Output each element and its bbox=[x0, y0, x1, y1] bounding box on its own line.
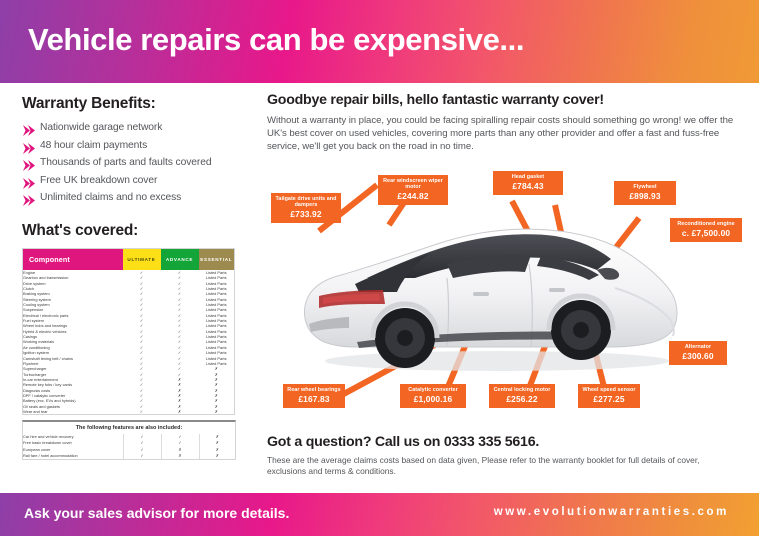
callout-label: Rear wheel bearings bbox=[287, 387, 341, 393]
callout-price: £167.83 bbox=[287, 395, 341, 404]
callout-price: £733.92 bbox=[275, 210, 337, 219]
callout-tailgate-drive-units[interactable]: Tailgate drive units and dampers £733.92 bbox=[271, 193, 341, 223]
extra-features-body: Car hire and vehicle recovery✓✓✗Free bas… bbox=[23, 434, 235, 459]
footer-website[interactable]: www.evolutionwarranties.com bbox=[494, 506, 729, 518]
benefit-item: Unlimited claims and no excess bbox=[22, 192, 247, 204]
header-banner: Vehicle repairs can be expensive... bbox=[0, 0, 759, 83]
callout-price: c. £7,500.00 bbox=[674, 229, 738, 238]
benefit-item: 48 hour claim payments bbox=[22, 140, 247, 152]
warranty-cover-heading: Goodbye repair bills, hello fantastic wa… bbox=[267, 92, 737, 108]
column-header-essential: ESSENTIAL bbox=[199, 249, 235, 271]
check-icon: ✓ bbox=[123, 409, 161, 415]
table-header-row: Component ULTIMATE ADVANCE ESSENTIAL bbox=[23, 249, 235, 271]
callout-label: Rear windscreen wiper motor bbox=[382, 178, 444, 190]
cross-icon: ✗ bbox=[199, 409, 235, 415]
contact-block: Got a question? Call us on 0333 335 5616… bbox=[267, 434, 737, 477]
callout-price: £898.93 bbox=[618, 192, 672, 201]
callout-rear-windscreen-wiper-motor[interactable]: Rear windscreen wiper motor £244.82 bbox=[378, 175, 448, 205]
callout-label: Wheel speed sensor bbox=[582, 387, 636, 393]
cross-icon: ✗ bbox=[199, 453, 235, 459]
left-column: Warranty Benefits: Nationwide garage net… bbox=[22, 95, 247, 460]
column-header-ultimate: ULTIMATE bbox=[123, 249, 161, 271]
callout-central-locking-motor[interactable]: Central locking motor £256.22 bbox=[489, 384, 555, 408]
coverage-table: Component ULTIMATE ADVANCE ESSENTIAL Eng… bbox=[22, 248, 235, 415]
callout-price: £244.82 bbox=[382, 192, 444, 201]
benefit-item: Nationwide garage network bbox=[22, 122, 247, 134]
callout-flywheel[interactable]: Flywheel £898.93 bbox=[614, 181, 676, 205]
footer-cta-text: Ask your sales advisor for more details. bbox=[24, 505, 289, 521]
callout-reconditioned-engine[interactable]: Reconditioned engine c. £7,500.00 bbox=[670, 218, 742, 242]
table-row: Wear and tear✓✗✗ bbox=[23, 409, 235, 415]
column-header-advance: ADVANCE bbox=[161, 249, 199, 271]
arrow-icon bbox=[22, 193, 36, 204]
benefits-list: Nationwide garage network48 hour claim p… bbox=[22, 122, 247, 204]
callout-label: Head gasket bbox=[497, 174, 559, 180]
benefit-label: Free UK breakdown cover bbox=[40, 175, 157, 186]
whats-covered-heading: What's covered: bbox=[22, 222, 247, 240]
warranty-cover-paragraph: Without a warranty in place, you could b… bbox=[267, 114, 737, 154]
vehicle-cost-diagram: Tailgate drive units and dampers £733.92… bbox=[267, 163, 747, 431]
callout-label: Central locking motor bbox=[493, 387, 551, 393]
arrow-icon bbox=[22, 123, 36, 134]
callout-price: £784.43 bbox=[497, 182, 559, 191]
extra-feature-name: Rail fare / hotel accommodation bbox=[23, 453, 123, 459]
extra-feature-row: Rail fare / hotel accommodation✓✗✗ bbox=[23, 453, 235, 459]
callout-head-gasket[interactable]: Head gasket £784.43 bbox=[493, 171, 563, 195]
callout-label: Tailgate drive units and dampers bbox=[275, 196, 337, 208]
column-header-component: Component bbox=[23, 249, 123, 271]
callout-price: £300.60 bbox=[673, 352, 723, 361]
cross-icon: ✗ bbox=[161, 409, 199, 415]
extra-features-table: Car hire and vehicle recovery✓✓✗Free bas… bbox=[23, 434, 235, 459]
arrow-icon bbox=[22, 158, 36, 169]
benefit-label: Thousands of parts and faults covered bbox=[40, 157, 211, 168]
benefit-label: Unlimited claims and no excess bbox=[40, 192, 181, 203]
benefit-label: 48 hour claim payments bbox=[40, 140, 147, 151]
callout-price: £256.22 bbox=[493, 395, 551, 404]
footer-banner: Ask your sales advisor for more details.… bbox=[0, 493, 759, 536]
coverage-table-body: Engine✓✓Listed PartsGearbox and transmis… bbox=[23, 270, 235, 415]
callout-catalytic-converter[interactable]: Catalytic converter £1,000.16 bbox=[400, 384, 466, 408]
car-illustration bbox=[297, 218, 687, 378]
contact-disclaimer: These are the average claims costs based… bbox=[267, 455, 737, 477]
warranty-benefits-heading: Warranty Benefits: bbox=[22, 95, 247, 113]
arrow-icon bbox=[22, 141, 36, 152]
benefit-label: Nationwide garage network bbox=[40, 122, 162, 133]
benefit-item: Thousands of parts and faults covered bbox=[22, 157, 247, 169]
callout-label: Flywheel bbox=[618, 184, 672, 190]
component-name: Wear and tear bbox=[23, 409, 123, 415]
check-icon: ✓ bbox=[123, 453, 161, 459]
callout-alternator[interactable]: Alternator £300.60 bbox=[669, 341, 727, 365]
callout-label: Alternator bbox=[673, 344, 723, 350]
callout-price: £277.25 bbox=[582, 395, 636, 404]
extra-features-panel: The following features are also included… bbox=[22, 420, 236, 460]
arrow-icon bbox=[22, 176, 36, 187]
callout-label: Catalytic converter bbox=[404, 387, 462, 393]
page-title: Vehicle repairs can be expensive... bbox=[28, 22, 524, 58]
callout-price: £1,000.16 bbox=[404, 395, 462, 404]
poster-page: Vehicle repairs can be expensive... Warr… bbox=[0, 0, 759, 536]
callout-label: Reconditioned engine bbox=[674, 221, 738, 227]
contact-heading: Got a question? Call us on 0333 335 5616… bbox=[267, 434, 737, 450]
cross-icon: ✗ bbox=[161, 453, 199, 459]
extra-features-title: The following features are also included… bbox=[23, 422, 235, 434]
benefit-item: Free UK breakdown cover bbox=[22, 175, 247, 187]
callout-wheel-speed-sensor[interactable]: Wheel speed sensor £277.25 bbox=[578, 384, 640, 408]
right-column-intro: Goodbye repair bills, hello fantastic wa… bbox=[267, 92, 737, 154]
callout-rear-wheel-bearings[interactable]: Rear wheel bearings £167.83 bbox=[283, 384, 345, 408]
